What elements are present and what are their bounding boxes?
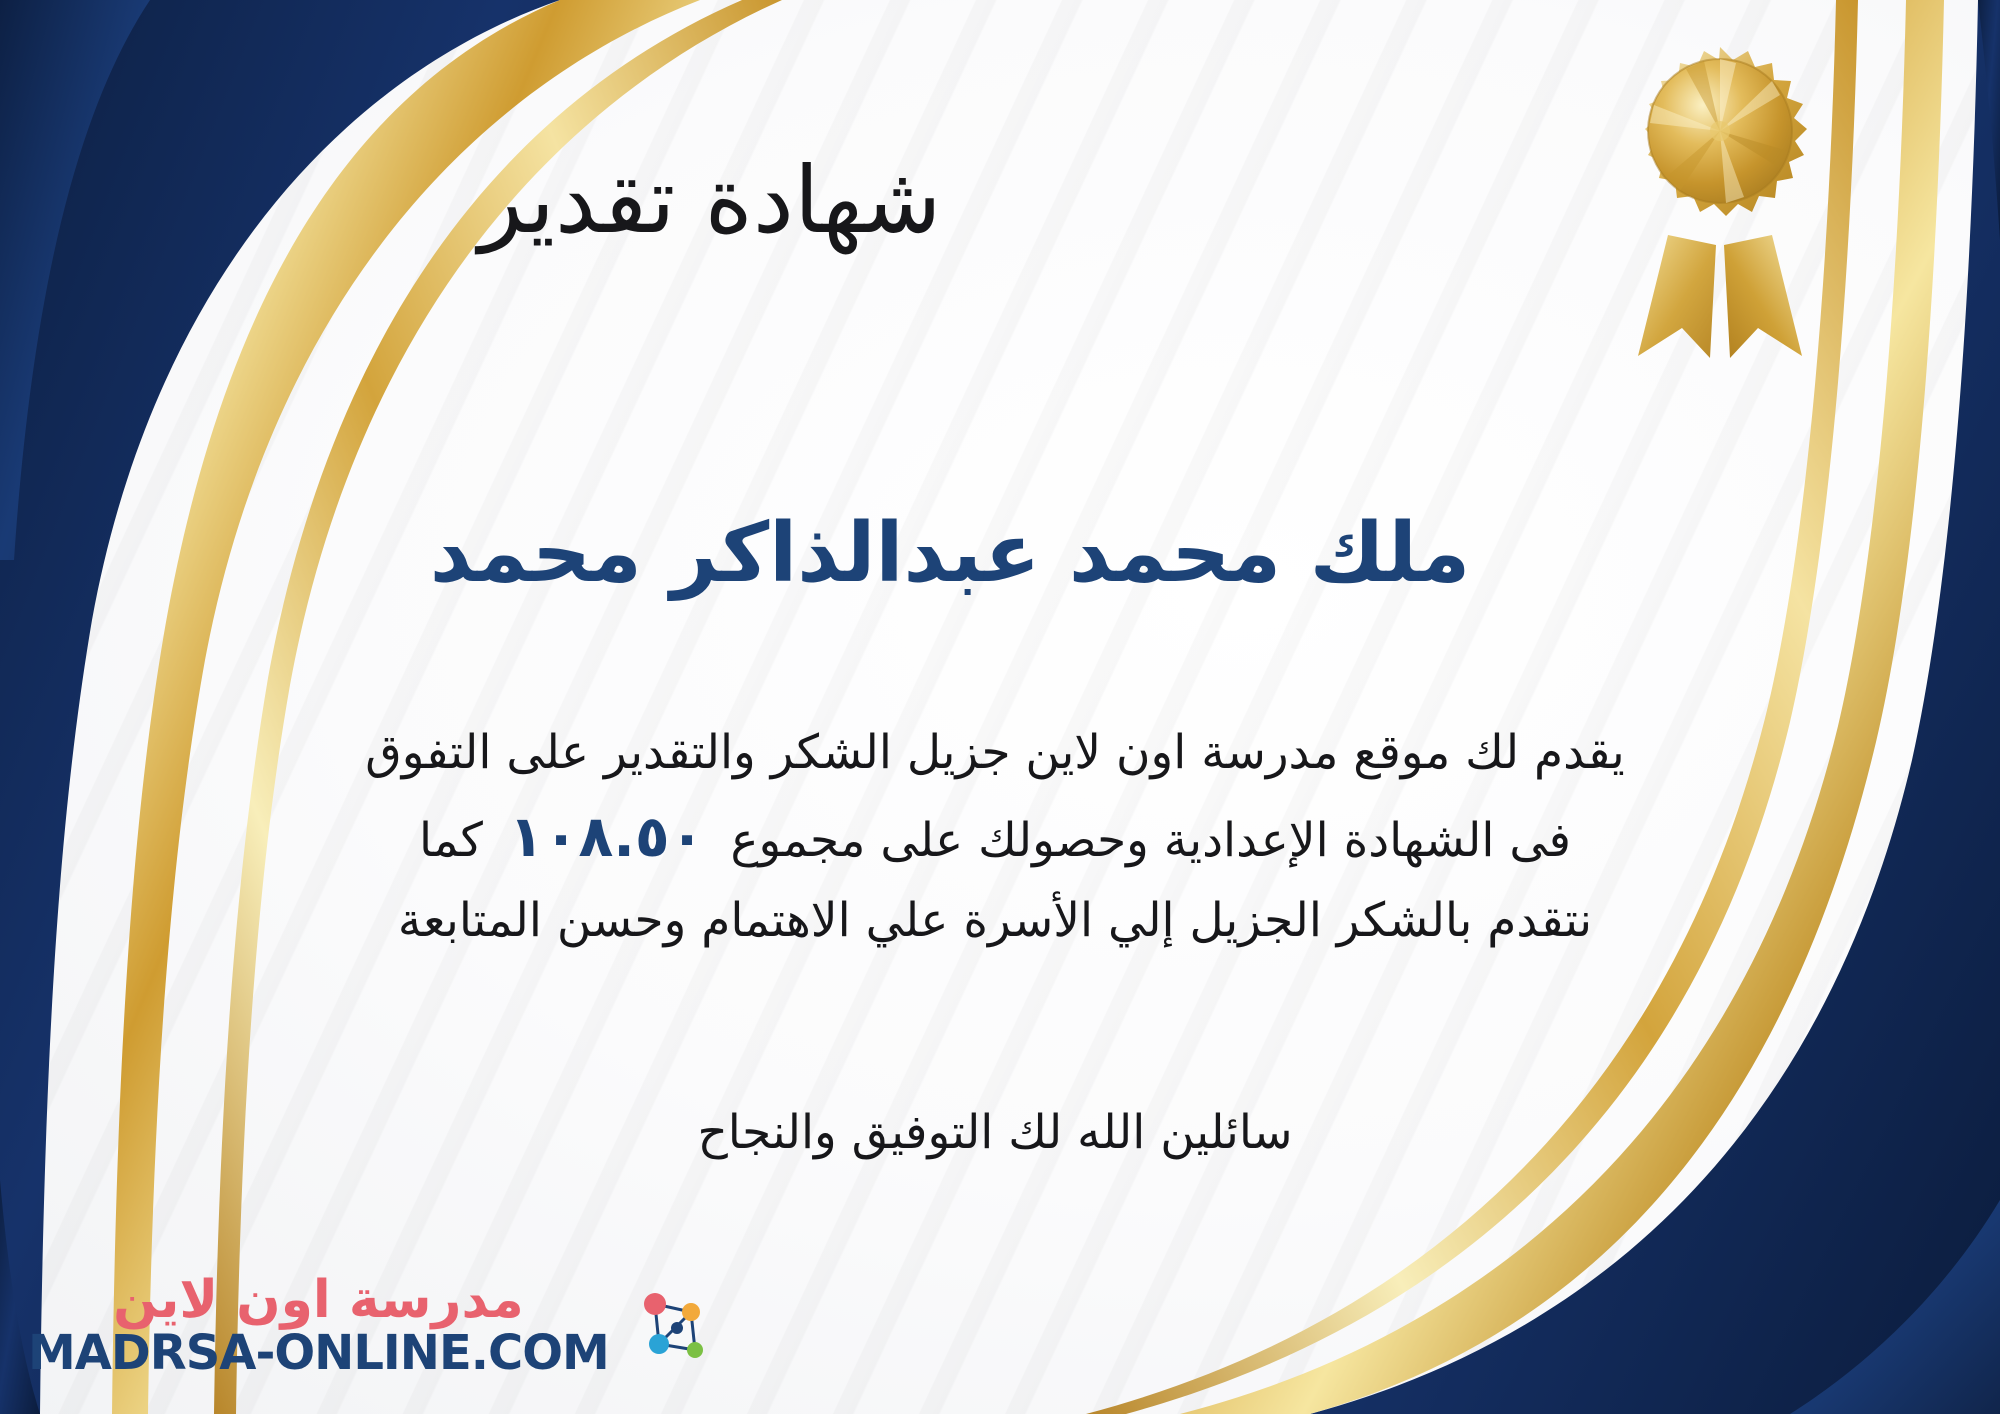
certificate-body: يقدم لك موقع مدرسة اون لاين جزيل الشكر و… (30, 715, 1960, 960)
body-line-2: فى الشهادة الإعدادية وحصولك على مجموع١٠٨… (30, 791, 1960, 883)
brand-arabic-name: مدرسة اون لاين (28, 1273, 609, 1328)
certificate-canvas: شهادة تقدير ملك محمد عبدالذاكر محمد يقدم… (0, 0, 2000, 1414)
page-title: شهادة تقدير (0, 148, 1420, 254)
recipient-name: ملك محمد عبدالذاكر محمد (0, 505, 1900, 603)
closing-line: سائلين الله لك التوفيق والنجاح (30, 1105, 1960, 1160)
body-line-2-prefix: فى الشهادة الإعدادية وحصولك على مجموع (730, 813, 1571, 868)
gold-medal-rosette-icon (1590, 40, 1850, 370)
body-line-3: نتقدم بالشكر الجزيل إلي الأسرة علي الاهت… (30, 883, 1960, 959)
brand-logo[interactable]: مدرسة اون لاين MADRSA-ONLINE.COM (28, 1273, 721, 1380)
brand-website: MADRSA-ONLINE.COM (28, 1327, 609, 1380)
body-line-2-suffix: كما (419, 813, 483, 868)
score-value: ١٠٨.٥٠ (483, 804, 731, 870)
network-nodes-icon (625, 1278, 721, 1374)
brand-text: مدرسة اون لاين MADRSA-ONLINE.COM (28, 1273, 609, 1380)
body-line-1: يقدم لك موقع مدرسة اون لاين جزيل الشكر و… (30, 715, 1960, 791)
